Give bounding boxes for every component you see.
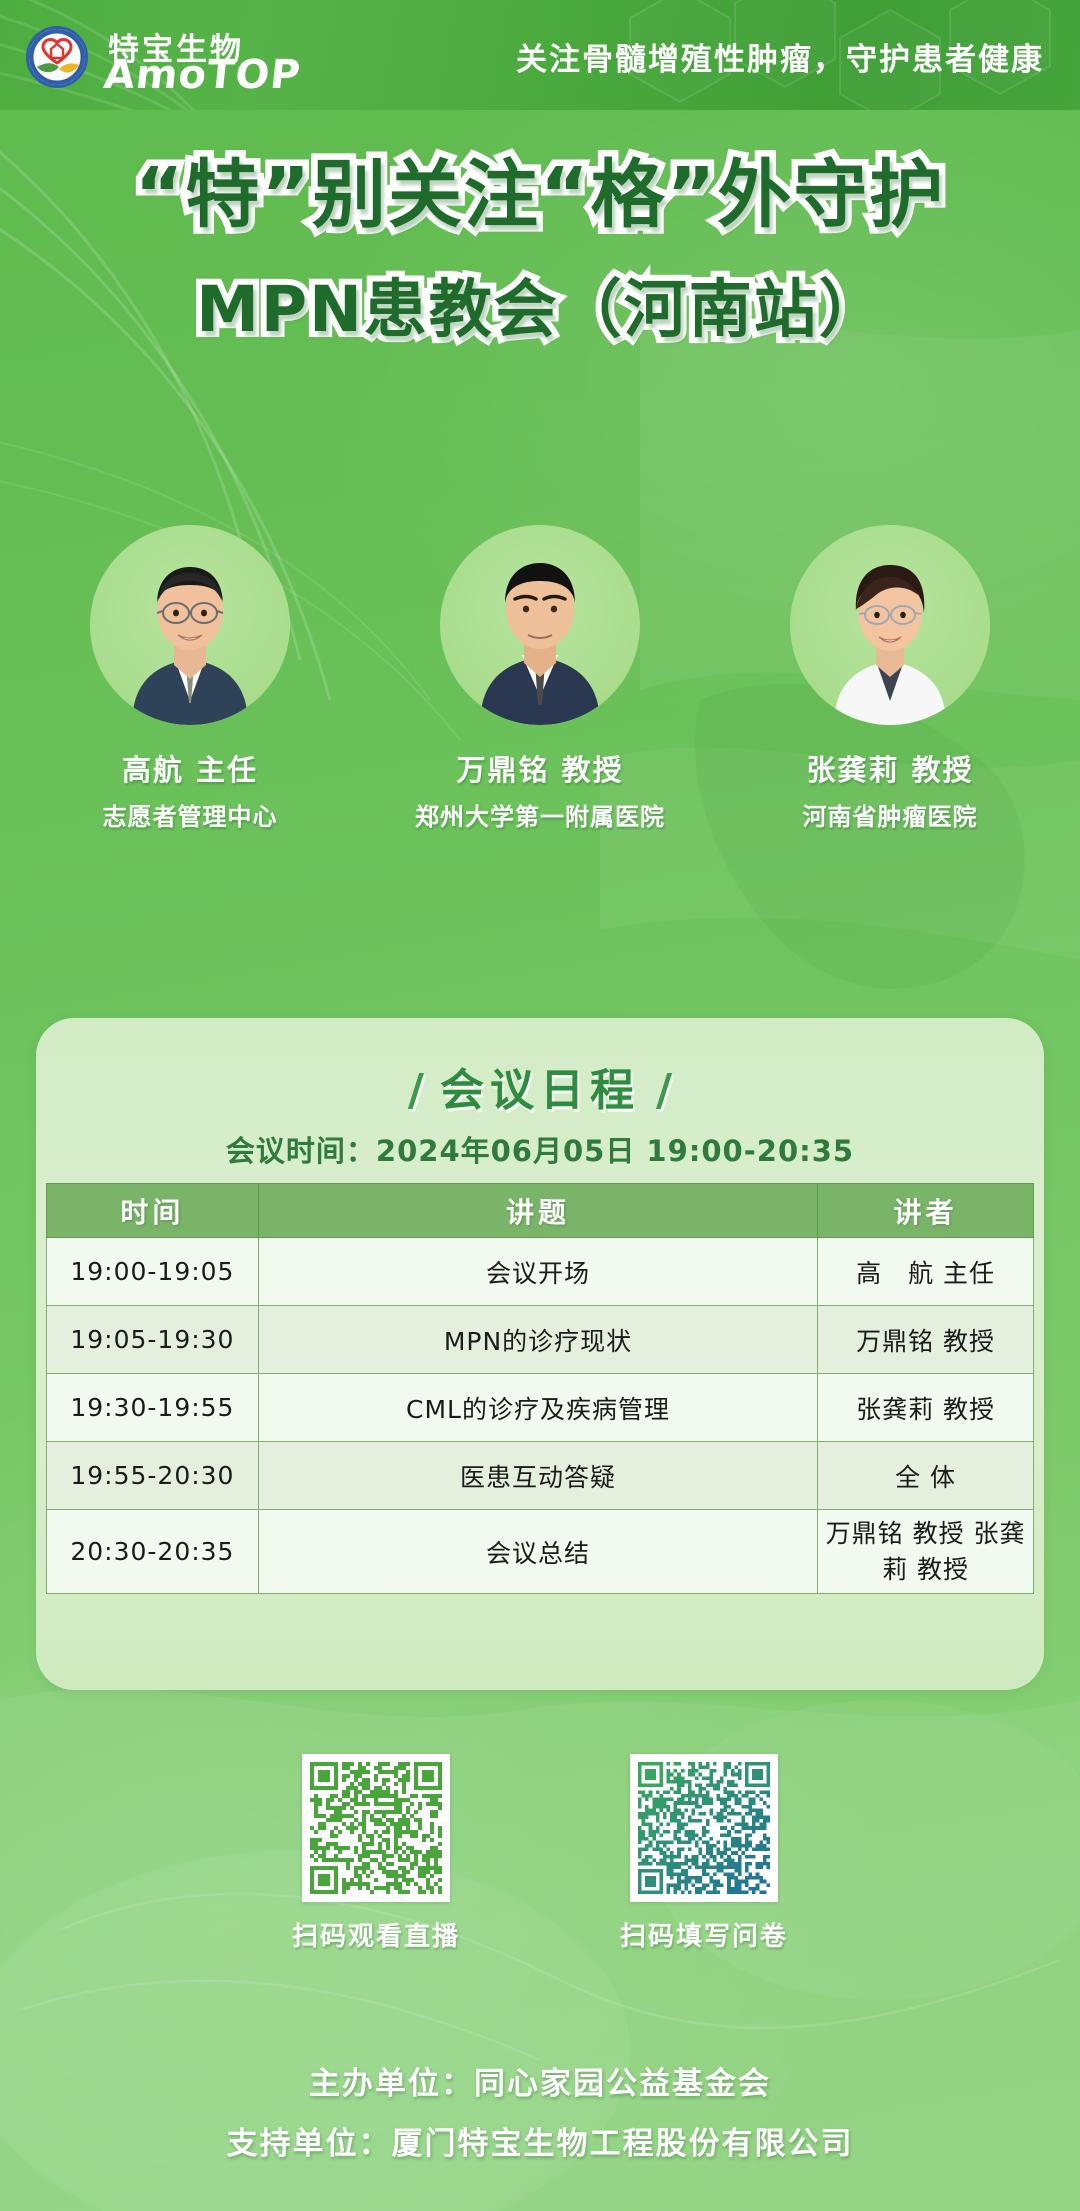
speaker-org: 郑州大学第一附属医院 <box>390 797 690 832</box>
cell-topic: 医患互动答疑 <box>258 1442 817 1510</box>
agenda-panel: /会议日程/ 会议时间：2024年06月05日 19:00-20:35 时间 讲… <box>36 1018 1044 1690</box>
footer-organizer: 主办单位：同心家园公益基金会 <box>0 2055 1080 2115</box>
table-row: 19:00-19:05 会议开场 高 航 主任 <box>47 1238 1034 1306</box>
header-banner: 特宝生物 AmoTOP 关注骨髓增殖性肿瘤，守护患者健康 <box>0 0 1080 110</box>
speaker-name: 高航 主任 <box>40 747 340 789</box>
cell-time: 20:30-20:35 <box>47 1510 259 1594</box>
cell-speaker: 全 体 <box>818 1442 1034 1510</box>
speaker-list: 高航 主任 志愿者管理中心 <box>40 525 1040 832</box>
speaker-name: 万鼎铭 教授 <box>390 747 690 789</box>
cell-topic: 会议总结 <box>258 1510 817 1594</box>
table-row: 20:30-20:35 会议总结 万鼎铭 教授 张龚莉 教授 <box>47 1510 1034 1594</box>
speaker-name: 张龚莉 教授 <box>740 747 1040 789</box>
column-header-time: 时间 <box>47 1184 259 1238</box>
table-header-row: 时间 讲题 讲者 <box>47 1184 1034 1238</box>
cell-topic: MPN的诊疗现状 <box>258 1306 817 1374</box>
agenda-table: 时间 讲题 讲者 19:00-19:05 会议开场 高 航 主任 19:05-1… <box>46 1183 1034 1594</box>
cell-speaker: 高 航 主任 <box>818 1238 1034 1306</box>
speaker-org: 河南省肿瘤医院 <box>740 797 1040 832</box>
footer-supporter: 支持单位：厦门特宝生物工程股份有限公司 <box>0 2115 1080 2175</box>
qr-label-live: 扫码观看直播 <box>292 1916 460 1953</box>
slash-left: / <box>408 1065 424 1116</box>
slash-right: / <box>656 1065 672 1116</box>
heart-house-logo-icon <box>29 29 85 85</box>
table-row: 19:05-19:30 MPN的诊疗现状 万鼎铭 教授 <box>47 1306 1034 1374</box>
cell-speaker: 万鼎铭 教授 <box>818 1306 1034 1374</box>
qr-block-survey[interactable]: 扫码填写问卷 <box>620 1754 788 1953</box>
avatar <box>90 525 290 725</box>
speaker-card: 高航 主任 志愿者管理中心 <box>40 525 340 832</box>
qr-label-survey: 扫码填写问卷 <box>620 1916 788 1953</box>
qr-code-icon[interactable] <box>630 1754 778 1902</box>
speaker-photo-3 <box>790 525 990 725</box>
speaker-photo-2 <box>440 525 640 725</box>
agenda-heading: /会议日程/ <box>36 1054 1044 1118</box>
speaker-card: 万鼎铭 教授 郑州大学第一附属医院 <box>390 525 690 832</box>
speaker-card: 张龚莉 教授 河南省肿瘤医院 <box>740 525 1040 832</box>
speaker-photo-1 <box>90 525 290 725</box>
avatar <box>790 525 990 725</box>
column-header-speaker: 讲者 <box>818 1184 1034 1238</box>
speaker-org: 志愿者管理中心 <box>40 797 340 832</box>
cell-time: 19:05-19:30 <box>47 1306 259 1374</box>
header-tagline: 关注骨髓增殖性肿瘤，守护患者健康 <box>516 34 1044 79</box>
avatar <box>440 525 640 725</box>
table-row: 19:55-20:30 医患互动答疑 全 体 <box>47 1442 1034 1510</box>
page-subtitle: MPN患教会（河南站） <box>0 272 1080 348</box>
cell-topic: CML的诊疗及疾病管理 <box>258 1374 817 1442</box>
qr-code-section: 扫码观看直播 扫码填写问卷 <box>0 1754 1080 1953</box>
table-row: 19:30-19:55 CML的诊疗及疾病管理 张龚莉 教授 <box>47 1374 1034 1442</box>
cell-time: 19:55-20:30 <box>47 1442 259 1510</box>
meeting-time: 会议时间：2024年06月05日 19:00-20:35 <box>36 1128 1044 1170</box>
cell-speaker: 万鼎铭 教授 张龚莉 教授 <box>818 1510 1034 1594</box>
page-title: “特”别关注“格”外守护 <box>0 152 1080 239</box>
cell-time: 19:00-19:05 <box>47 1238 259 1306</box>
brand-name-en: AmoTOP <box>102 52 304 98</box>
agenda-heading-text: 会议日程 <box>440 1065 640 1116</box>
column-header-topic: 讲题 <box>258 1184 817 1238</box>
cell-speaker: 张龚莉 教授 <box>818 1374 1034 1442</box>
footer: 主办单位：同心家园公益基金会 支持单位：厦门特宝生物工程股份有限公司 <box>0 2055 1080 2174</box>
charity-foundation-logo <box>26 26 88 88</box>
qr-block-live[interactable]: 扫码观看直播 <box>292 1754 460 1953</box>
cell-time: 19:30-19:55 <box>47 1374 259 1442</box>
cell-topic: 会议开场 <box>258 1238 817 1306</box>
qr-code-icon[interactable] <box>302 1754 450 1902</box>
